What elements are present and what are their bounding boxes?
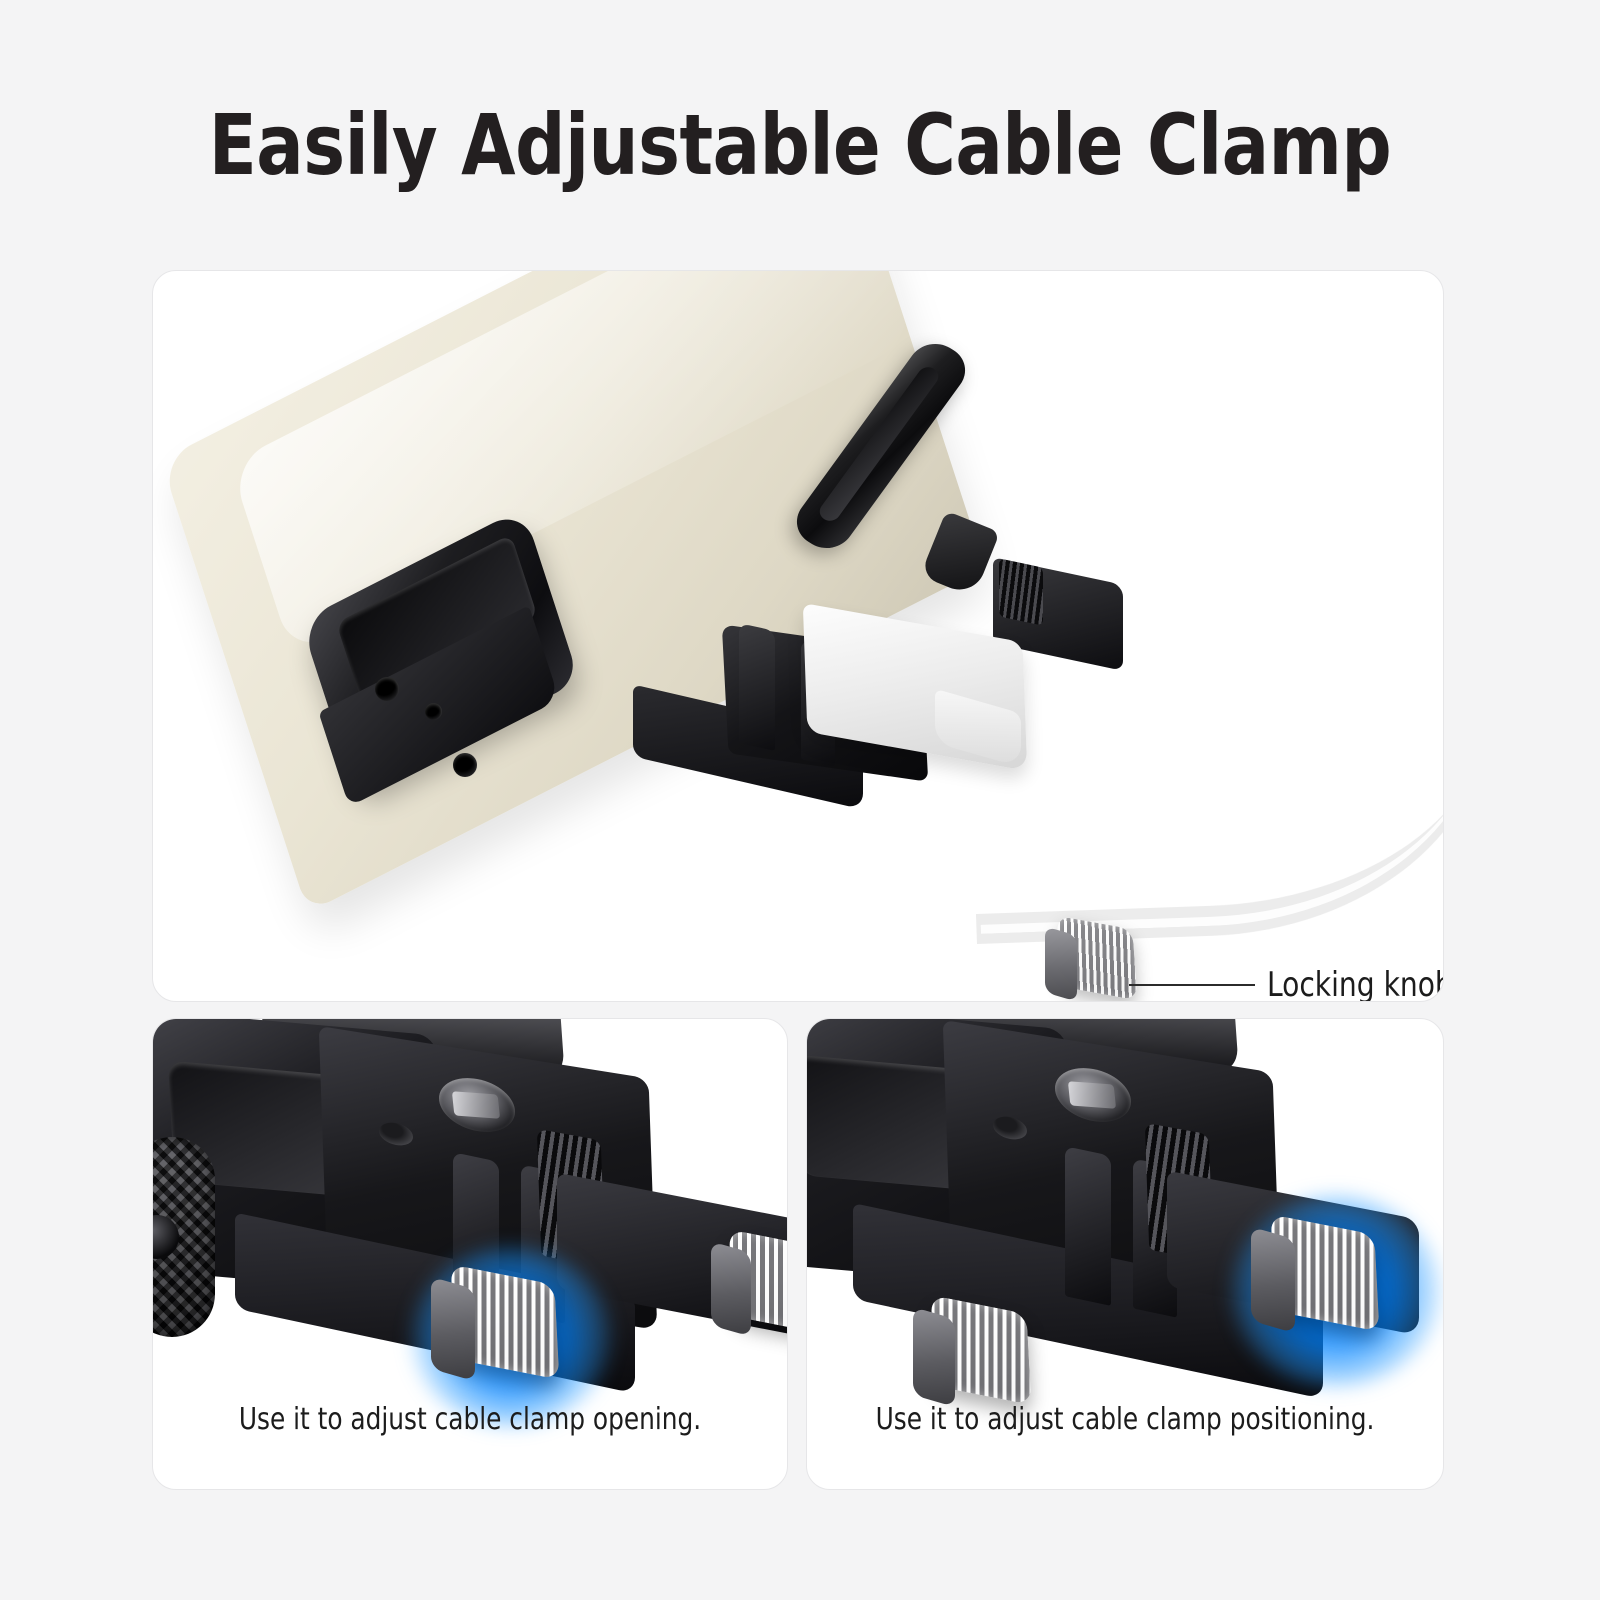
caption-clamp-opening: Use it to adjust cable clamp opening.	[178, 1402, 761, 1437]
clamp-finger	[1065, 1146, 1111, 1306]
screw-slot-icon	[1068, 1081, 1116, 1109]
locking-knob-secondary-face	[711, 1241, 751, 1336]
mount-hole-icon	[453, 753, 477, 777]
locking-knob-right-face	[1045, 926, 1077, 1001]
locking-knob-positioning-face	[1251, 1227, 1295, 1334]
page-title: Easily Adjustable Cable Clamp	[56, 96, 1544, 194]
screw-slot-icon	[452, 1091, 500, 1119]
detail-card-clamp-positioning: Use it to adjust cable clamp positioning…	[806, 1018, 1444, 1490]
cable-highlight	[973, 702, 1444, 934]
callout-label-locking-knob-right: Locking knob	[1267, 965, 1444, 1002]
clamp-upper-ridge	[999, 558, 1043, 625]
hero-product-illustration: Locking knob Locking knob	[153, 271, 1443, 1001]
locking-knob-opening-face	[431, 1277, 475, 1382]
locking-knob-secondary-face	[913, 1307, 955, 1407]
clamp-finger	[739, 623, 775, 751]
caption-clamp-positioning: Use it to adjust cable clamp positioning…	[832, 1402, 1417, 1437]
mount-hole-icon	[375, 677, 399, 701]
callout-leader-line-right	[1129, 984, 1255, 986]
hero-image-card: Locking knob Locking knob	[152, 270, 1444, 1002]
detail-card-clamp-opening: Use it to adjust cable clamp opening.	[152, 1018, 788, 1490]
mount-hole-icon	[425, 703, 442, 720]
